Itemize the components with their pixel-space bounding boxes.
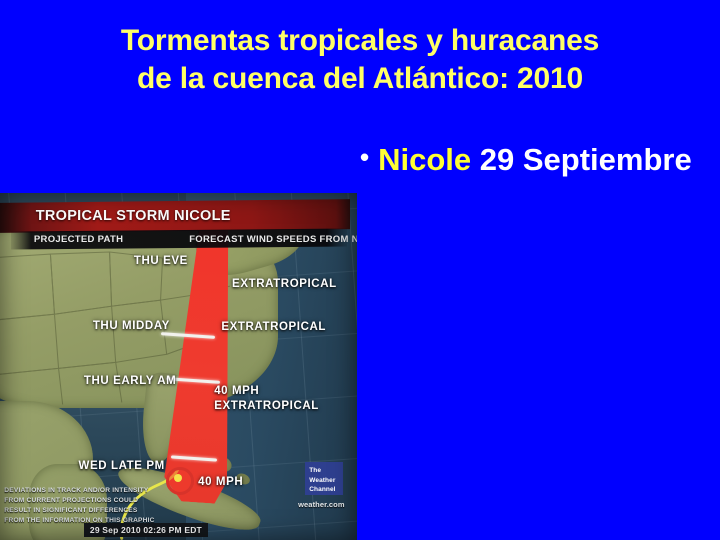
map-label-40mph: 40 MPH xyxy=(198,476,243,488)
storm-name-label: Nicole xyxy=(378,142,471,177)
map-label-thu-midday: THU MIDDAY xyxy=(93,320,170,332)
storm-date-day: 29 xyxy=(480,142,514,177)
map-label-extratropical-north: EXTRATROPICAL xyxy=(232,278,337,290)
storm-center-marker xyxy=(166,467,194,495)
logo-line-3: Channel xyxy=(309,485,343,495)
list-item: • Nicole 29 Septiembre xyxy=(360,139,710,180)
bullet-item-text: Nicole 29 Septiembre xyxy=(378,139,692,180)
weather-map-image: TROPICAL STORM NICOLE PROJECTED PATH FOR… xyxy=(0,193,357,540)
map-timestamp: 29 Sep 2010 02:26 PM EDT xyxy=(84,523,208,537)
disclaimer-line-2: FROM CURRENT PROJECTIONS COULD xyxy=(4,496,154,506)
map-label-extratropical-mid: EXTRATROPICAL xyxy=(221,321,326,333)
map-disclaimer: DEVIATIONS IN TRACK AND/OR INTENSITY FRO… xyxy=(4,486,154,526)
bullet-list: • Nicole 29 Septiembre xyxy=(360,139,710,180)
disclaimer-line-1: DEVIATIONS IN TRACK AND/OR INTENSITY xyxy=(4,486,154,496)
bullet-marker-icon: • xyxy=(360,139,369,176)
map-label-wed-late-pm: WED LATE PM xyxy=(79,460,165,472)
logo-line-2: Weather xyxy=(309,476,343,486)
page-title: Tormentas tropicales y huracanes de la c… xyxy=(20,22,700,98)
map-label-thu-early-am: THU EARLY AM xyxy=(84,375,176,387)
page-title-line-2: de la cuenca del Atlántico: 2010 xyxy=(20,60,700,98)
page-title-line-1: Tormentas tropicales y huracanes xyxy=(20,22,700,60)
weather-channel-url: weather.com xyxy=(298,500,345,509)
logo-line-1: The xyxy=(309,466,343,476)
subtitle-forecast-source: FORECAST WIND SPEEDS FROM NHC xyxy=(189,230,357,247)
headline-banner-text: TROPICAL STORM NICOLE xyxy=(36,202,231,230)
disclaimer-line-3: RESULT IN SIGNIFICANT DIFFERENCES xyxy=(4,506,154,516)
map-label-thu-eve: THU EVE xyxy=(134,255,188,267)
subtitle-projected-path: PROJECTED PATH xyxy=(34,230,123,247)
storm-date-month: Septiembre xyxy=(523,142,692,177)
map-label-40mph-extratropical: 40 MPH EXTRATROPICAL xyxy=(214,384,343,414)
weather-channel-logo: The Weather Channel xyxy=(305,462,343,495)
